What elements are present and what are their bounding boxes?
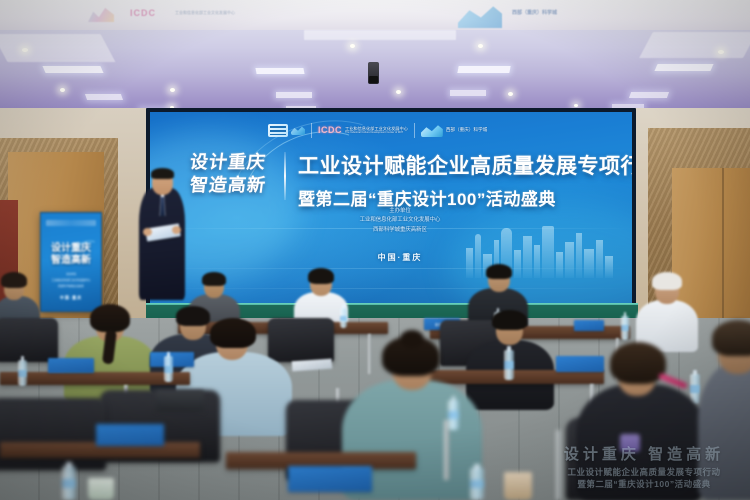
logo-divider (414, 123, 415, 138)
icdc-wordmark-icon: ICDC (318, 125, 342, 135)
attendee-hair (176, 306, 210, 326)
table-leg (556, 430, 561, 500)
water-bottle (62, 466, 76, 500)
attendee-hair (1, 272, 27, 288)
water-bottle (621, 316, 629, 340)
ceiling-downlight (718, 50, 724, 54)
bottle-label (690, 385, 700, 393)
table-leg (368, 334, 371, 374)
attendee-hair (202, 272, 226, 286)
skyline-building (565, 242, 574, 278)
speaker-hand-right (172, 226, 181, 234)
water-bottle (340, 308, 347, 328)
ceiling-downlight (478, 44, 483, 48)
icdc-label-cn: 工业和信息化部工业文化发展中心 (345, 126, 408, 131)
screen-title: 工业设计赋能企业高质量发展专项行动 暨第二届“重庆设计100”活动盛典 (298, 150, 628, 210)
paper-cup (504, 472, 532, 500)
name-placard (288, 466, 372, 492)
speaker-hair (151, 168, 174, 179)
chair[interactable] (0, 398, 106, 470)
slogan-line-2: 智造高新 (175, 175, 281, 195)
organizer-heading: 主办单位 (300, 207, 500, 216)
slogan-divider (284, 152, 286, 200)
screen-slogan: 设计重庆 智造高新 (176, 152, 280, 195)
bottle-label (164, 366, 173, 373)
bottle-label (504, 361, 514, 369)
reflected-icdc-wordmark: ICDC (130, 8, 156, 18)
ceiling-downlight (396, 90, 401, 94)
attendee-hair (308, 268, 334, 284)
skyline-building (596, 240, 603, 278)
paper-cup (88, 478, 114, 500)
attendee-hair (610, 342, 666, 384)
skyline-building (542, 226, 554, 278)
attendee-hair-white (652, 272, 682, 290)
slogan-line-1: 设计重庆 (175, 152, 281, 172)
right-door-seam (722, 168, 724, 320)
ceiling-light-strip (85, 94, 123, 100)
water-bottle (18, 360, 27, 386)
bottle-label (448, 411, 459, 419)
ceiling-downlight (508, 92, 513, 96)
rollup-logo-strip (46, 220, 96, 226)
ceiling-downlight (350, 44, 355, 48)
ceiling-light-strip (450, 90, 486, 96)
name-placard (556, 356, 604, 372)
attendee-hair (712, 320, 750, 356)
logo-divider (311, 123, 312, 138)
name-placard (574, 320, 604, 331)
skyline-building (556, 252, 563, 278)
wave-mark-icon (421, 123, 443, 137)
ceiling-panel (0, 34, 115, 62)
attendee-hair (492, 310, 527, 330)
ceiling-light-strip (629, 92, 669, 98)
screen-logo-bar: ICDC 工业和信息化部工业文化发展中心 The Industrial Cult… (268, 119, 514, 141)
table-row-middle (0, 372, 190, 385)
logo-science-city: 西部（重庆）科学城 (421, 123, 487, 137)
bottle-label (621, 325, 629, 331)
rollup-banner: 设计重庆 智造高新 主办单位 工业和信息化部工业文化发展中心 西部科学城重庆高新… (40, 212, 102, 312)
ceiling-light-strip (276, 92, 312, 98)
bars-mark-icon (268, 124, 288, 137)
icdc-label-en: The Industrial Culture Development Cente… (345, 131, 408, 134)
chair[interactable] (268, 318, 334, 362)
title-line-1: 工业设计赋能企业高质量发展专项行动 (298, 150, 628, 180)
ceiling-light-strip (42, 66, 103, 73)
rollup-organizer-line-2: 工业和信息化部工业文化发展中心 (45, 279, 97, 283)
skyline-building (475, 234, 481, 278)
speaker-hand-left (143, 228, 152, 236)
attendee-hair-bun (400, 330, 424, 348)
water-bottle (164, 356, 173, 382)
water-bottle (504, 350, 514, 380)
reflected-science-city-label: 西部（重庆）科学城 (512, 9, 557, 16)
wave-mark-icon (291, 125, 305, 135)
paper-cup (620, 434, 640, 452)
science-city-label: 西部（重庆）科学城 (446, 127, 487, 133)
ceiling-downlight (60, 88, 65, 92)
attendee-hair (210, 318, 256, 348)
attendee-hair (90, 304, 130, 332)
laptop[interactable] (156, 390, 204, 412)
logo-miit-mark (268, 124, 305, 137)
skyline-building (576, 233, 582, 278)
name-placard (96, 424, 164, 446)
ceiling-projector (368, 62, 379, 84)
skyline-building (466, 248, 473, 278)
ceiling-panel (639, 32, 750, 58)
skyline-building (605, 256, 613, 278)
rollup-city-label: 中国·重庆 (41, 295, 101, 301)
ceiling-logo-reflection: ICDC 工业和信息化部工业文化发展中心 西部（重庆）科学城 (60, 2, 620, 32)
skyline-building (584, 249, 594, 278)
ceiling-light-strip (654, 64, 713, 71)
ceiling-downlight (22, 48, 28, 52)
bottle-label (62, 479, 76, 488)
ceiling-panel (304, 30, 456, 40)
chair[interactable] (0, 318, 58, 362)
ceiling-downlight (574, 104, 578, 107)
reflected-icdc-label: 工业和信息化部工业文化发展中心 (175, 10, 235, 16)
attendee-dark-jacket (576, 384, 706, 500)
logo-icdc: ICDC 工业和信息化部工业文化发展中心 The Industrial Cult… (318, 125, 408, 135)
skyline-building (523, 236, 532, 278)
name-placard (48, 358, 94, 373)
water-bottle (448, 400, 459, 430)
ceiling-downlight (170, 88, 175, 92)
water-bottle (470, 468, 484, 500)
bottle-label (340, 316, 347, 321)
rollup-organizer-line-1: 主办单位 (45, 273, 97, 277)
skyline-building (514, 250, 521, 278)
rollup-organizer-line-3: 西部科学城重庆高新区 (45, 285, 97, 289)
reflected-wave-mark-icon (458, 4, 502, 28)
conference-photo: ICDC 工业和信息化部工业文化发展中心 西部（重庆）科学城 (0, 0, 750, 500)
right-door-panel[interactable] (672, 168, 750, 320)
reflected-bars-mark-icon (88, 6, 114, 22)
ceiling-light-strip (255, 68, 304, 74)
attendee-hair (486, 264, 512, 279)
bottle-label (470, 480, 484, 488)
bottle-label (18, 370, 27, 377)
ceiling-light-strip (457, 66, 510, 73)
icdc-label: 工业和信息化部工业文化发展中心 The Industrial Culture D… (345, 126, 408, 134)
skyline-building (534, 245, 540, 278)
